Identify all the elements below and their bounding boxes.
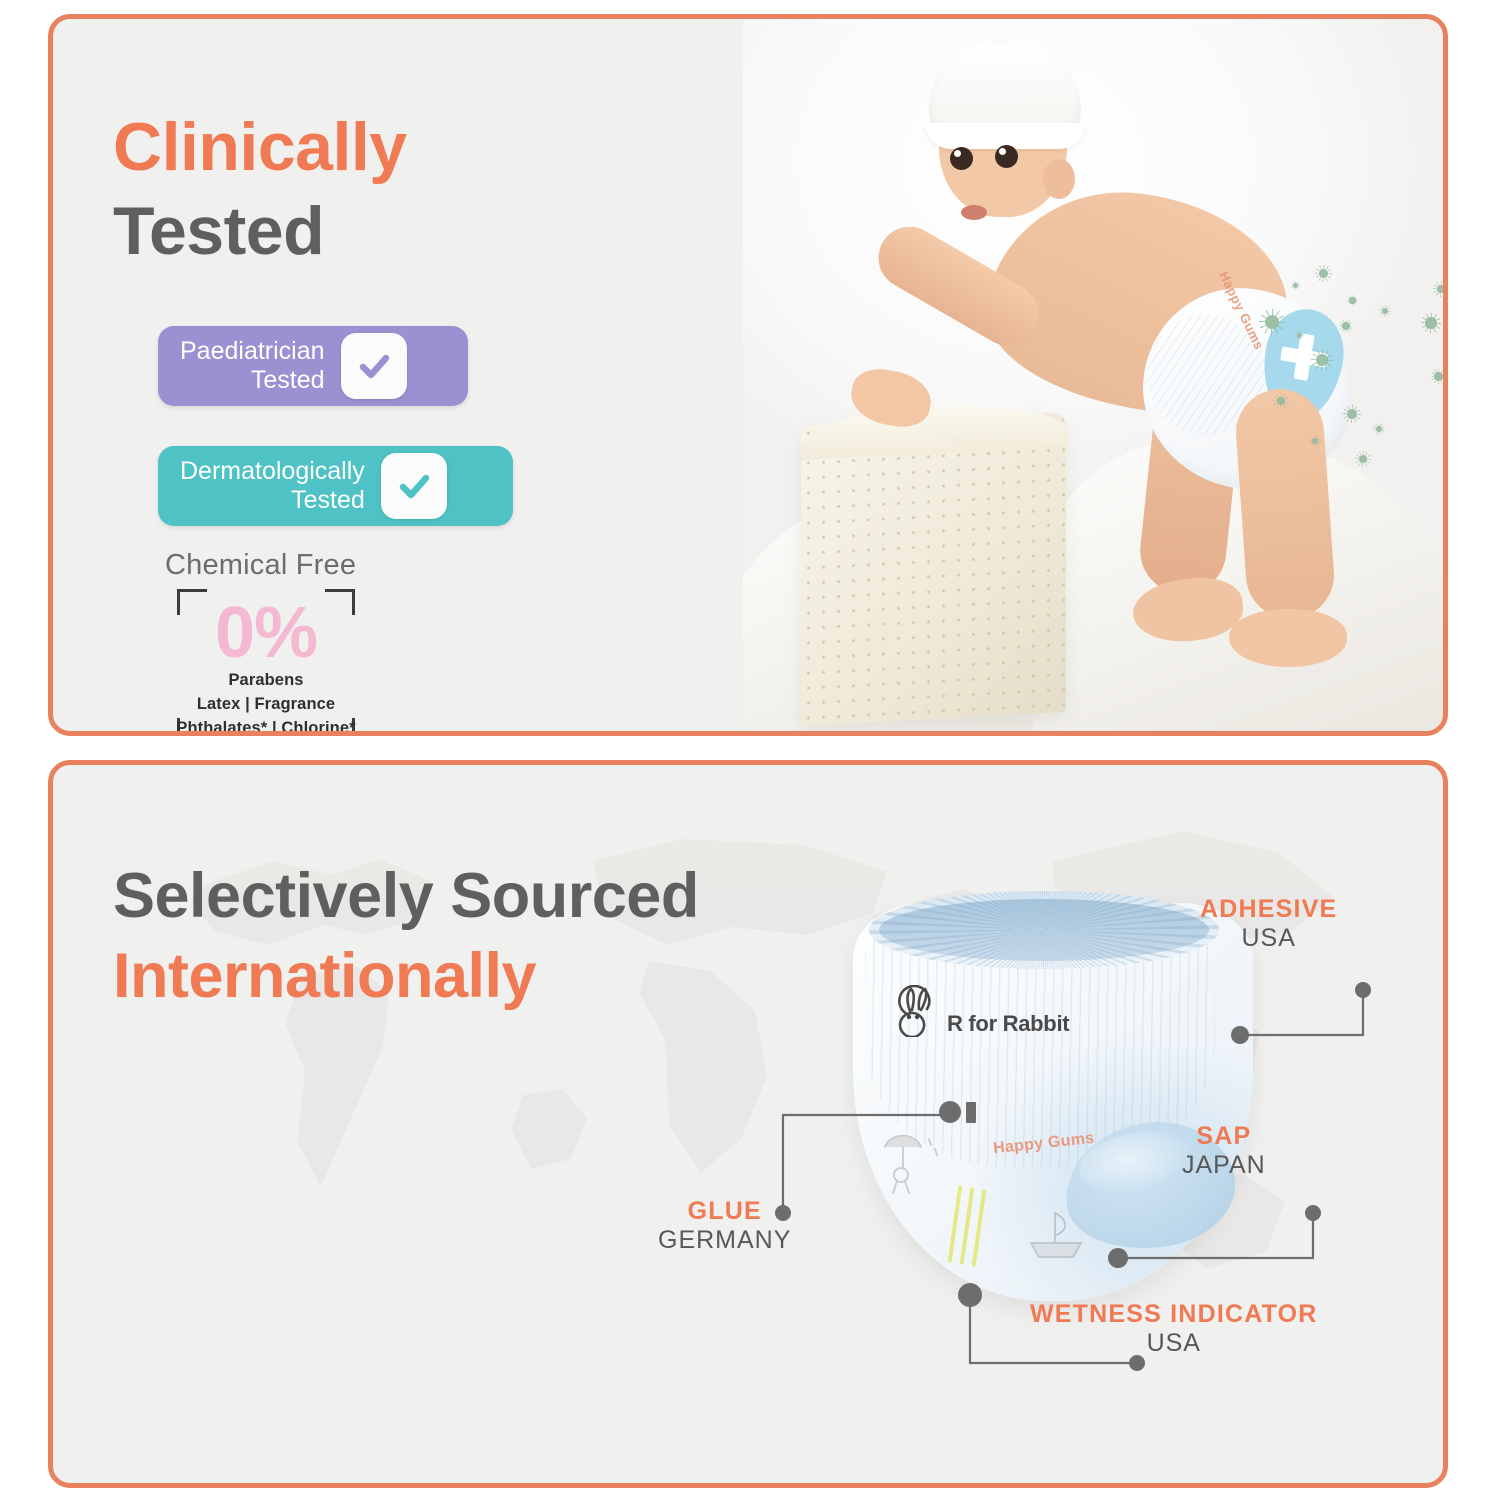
germ-particle: [1343, 405, 1361, 423]
baby-figure: Happy Gums: [743, 19, 1448, 731]
clinically-tested-panel: Happy Gums Clinically Tested Paediatrici…: [48, 14, 1448, 736]
germ-particle: [1291, 281, 1300, 290]
callout-adhesive-country: USA: [1200, 924, 1337, 953]
page-title-line1: Clinically: [113, 113, 407, 181]
callout-sap: SAP JAPAN: [1182, 1122, 1266, 1180]
callout-adhesive: ADHESIVE USA: [1200, 895, 1337, 953]
callout-glue-country: GERMANY: [658, 1226, 791, 1255]
baby-cap-knot: [991, 33, 1009, 47]
check-icon-dermatological: [381, 453, 447, 519]
chemical-free-item-3: Phthalates* | Chlorine*: [163, 719, 369, 736]
germ-particle: [1273, 393, 1289, 409]
product-logo-text: R for Rabbit: [947, 1011, 1069, 1037]
germ-particle: [1339, 319, 1353, 333]
callout-glue: GLUE GERMANY: [658, 1197, 791, 1255]
callout-glue-title: GLUE: [658, 1197, 791, 1226]
product-logo: R for Rabbit: [895, 985, 1069, 1037]
baby-eye-right: [995, 145, 1018, 168]
baby-foot-front: [1229, 609, 1347, 667]
chemical-free-label: Chemical Free: [165, 549, 356, 582]
badge-dermatological-label: Dermatologically Tested: [158, 445, 381, 527]
baby-eye-highlight-right: [999, 148, 1006, 155]
badge-dermatologically-tested: Dermatologically Tested: [158, 446, 513, 526]
germ-particle: [1309, 435, 1321, 447]
germ-particle: [1379, 305, 1391, 317]
germ-particle: [1431, 369, 1446, 384]
page-title-line2: Tested: [113, 197, 324, 265]
callout-wetness-title: WETNESS INDICATOR: [1030, 1300, 1318, 1329]
umbrella-doodle-icon: [871, 1123, 951, 1201]
callout-adhesive-title: ADHESIVE: [1200, 895, 1337, 924]
chemical-free-item-2: Latex | Fragrance: [163, 695, 369, 714]
sourced-title-line2: Internationally: [113, 945, 536, 1008]
callout-wetness-country: USA: [1030, 1329, 1318, 1358]
germ-particle: [1259, 309, 1285, 335]
baby-ear: [1043, 159, 1075, 199]
germ-particle: [1355, 451, 1371, 467]
germ-particle: [1315, 265, 1332, 282]
rabbit-icon: [895, 985, 941, 1037]
germ-particle: [1347, 295, 1358, 306]
check-icon-paediatrician: [341, 333, 407, 399]
baby-photo: Happy Gums: [743, 19, 1448, 731]
badge-paediatrician-tested: Paediatrician Tested: [158, 326, 468, 406]
germ-particle: [1433, 281, 1448, 297]
callout-sap-title: SAP: [1182, 1122, 1266, 1151]
boat-doodle-icon: [1011, 1195, 1103, 1265]
pant-waistband-rim: [869, 891, 1219, 969]
germ-particle: [1373, 423, 1385, 435]
baby-mouth: [961, 205, 987, 220]
germ-particle: [1421, 313, 1441, 333]
chemical-free-item-1: Parabens: [163, 671, 369, 690]
badge-paediatrician-label: Paediatrician Tested: [158, 325, 341, 407]
germ-particle: [1311, 349, 1333, 371]
chemical-free-value: 0%: [177, 597, 355, 669]
baby-leg-front: [1233, 386, 1337, 622]
baby-eye-highlight-left: [954, 150, 961, 157]
callout-sap-country: JAPAN: [1182, 1151, 1266, 1180]
baby-eye-left: [950, 147, 973, 170]
baby-hand: [847, 364, 935, 431]
germ-particle: [1295, 331, 1304, 340]
sourced-title-line1: Selectively Sourced: [113, 865, 699, 928]
callout-wetness-indicator: WETNESS INDICATOR USA: [1030, 1300, 1318, 1358]
